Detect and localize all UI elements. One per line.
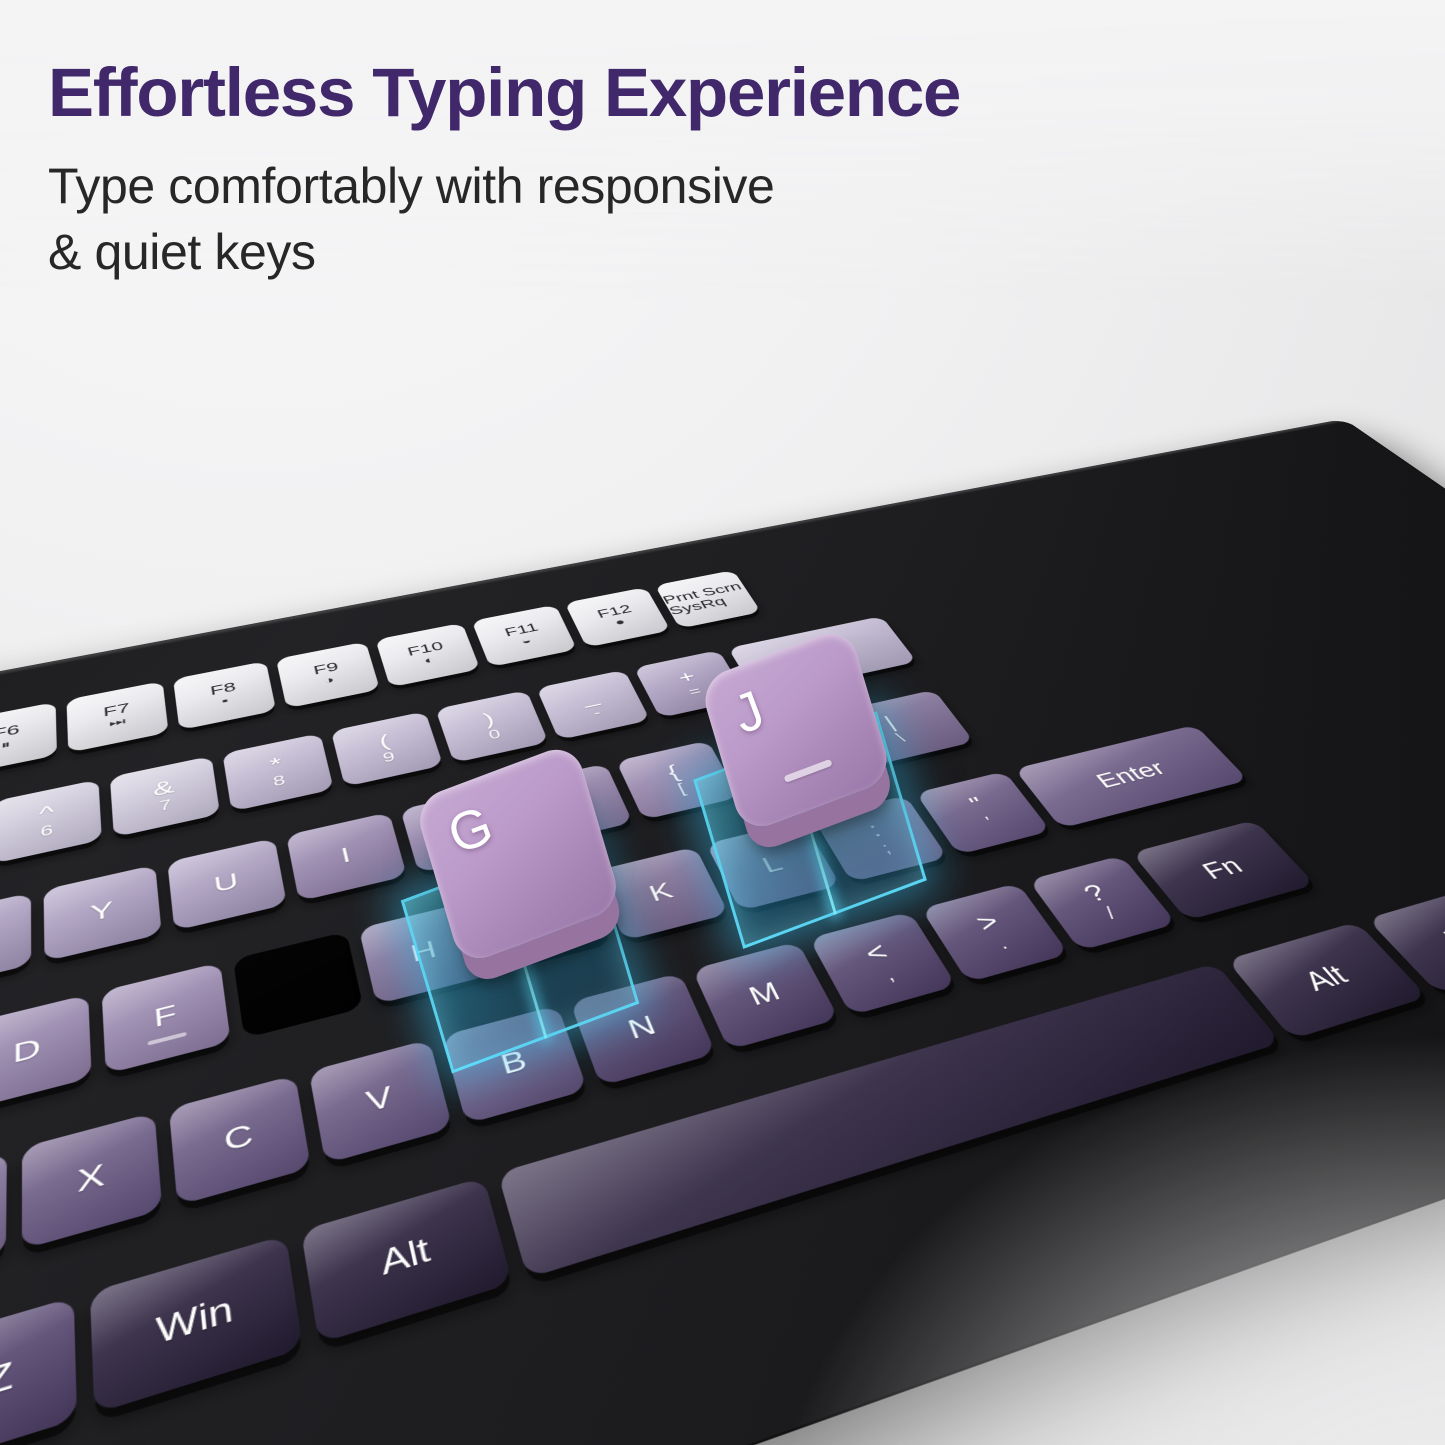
key-secondary-label: \ bbox=[894, 731, 908, 745]
key-label: | bbox=[880, 713, 899, 732]
subtitle-line-2: & quiet keys bbox=[48, 219, 1228, 285]
subtitle-line-1: Type comfortably with responsive bbox=[48, 153, 1228, 219]
lifted-keycap-j-label: J bbox=[725, 679, 772, 747]
key-label: Enter bbox=[1091, 757, 1170, 792]
key-label: : bbox=[864, 818, 885, 841]
key-secondary-label: = bbox=[687, 685, 704, 699]
key-secondary-label: 9 bbox=[381, 750, 396, 765]
key-label: { bbox=[664, 761, 683, 782]
key-label: I bbox=[339, 844, 353, 867]
key-secondary-label: ◑ bbox=[323, 675, 336, 687]
key-label: K bbox=[645, 878, 676, 906]
key-label: ( bbox=[377, 731, 392, 751]
key-secondary-label: ◒ bbox=[520, 636, 534, 647]
key-secondary-label: ; bbox=[879, 840, 894, 856]
key-label: U bbox=[212, 869, 239, 897]
key-secondary-label: - bbox=[591, 706, 603, 719]
homing-bar-icon bbox=[783, 759, 832, 783]
key-label: Fn bbox=[1197, 853, 1248, 884]
key-secondary-label: [ bbox=[676, 782, 689, 797]
key-secondary-label: ▪ bbox=[221, 696, 229, 707]
key-secondary-label: ' bbox=[983, 815, 997, 830]
lifted-keycap-g-label: G bbox=[440, 794, 501, 867]
key-secondary-label: 0 bbox=[487, 727, 503, 742]
key-secondary-label: 6 bbox=[40, 823, 53, 840]
key-label: & bbox=[152, 776, 175, 800]
key-label: ? bbox=[1078, 880, 1112, 907]
keyboard-body: F4◉F5⏮F6⏸F7⏭F8▪F9◑F10◐F11◒F12●Prnt Scrn … bbox=[0, 438, 1445, 1445]
key-label: ) bbox=[481, 709, 497, 728]
key-label: " bbox=[965, 793, 989, 815]
key-label: _ bbox=[578, 688, 601, 708]
key-label: Prnt Scrn SysRq bbox=[661, 580, 754, 617]
copy-block: Effortless Typing Experience Type comfor… bbox=[48, 58, 1228, 285]
key-secondary-label: ⏸ bbox=[1, 739, 11, 752]
key-secondary-label: ◐ bbox=[423, 655, 436, 666]
key-label: L bbox=[758, 851, 787, 877]
key-label: * bbox=[268, 754, 284, 775]
key-secondary-label: ● bbox=[613, 617, 627, 628]
key-secondary-label: ⏭ bbox=[109, 716, 126, 730]
key-secondary-label: 7 bbox=[158, 797, 172, 814]
key-label: ^ bbox=[39, 801, 55, 824]
page-title: Effortless Typing Experience bbox=[48, 58, 1228, 127]
product-feature-banner: F4◉F5⏮F6⏸F7⏭F8▪F9◑F10◐F11◒F12●Prnt Scrn … bbox=[0, 0, 1445, 1445]
key-secondary-label: 8 bbox=[272, 773, 287, 789]
